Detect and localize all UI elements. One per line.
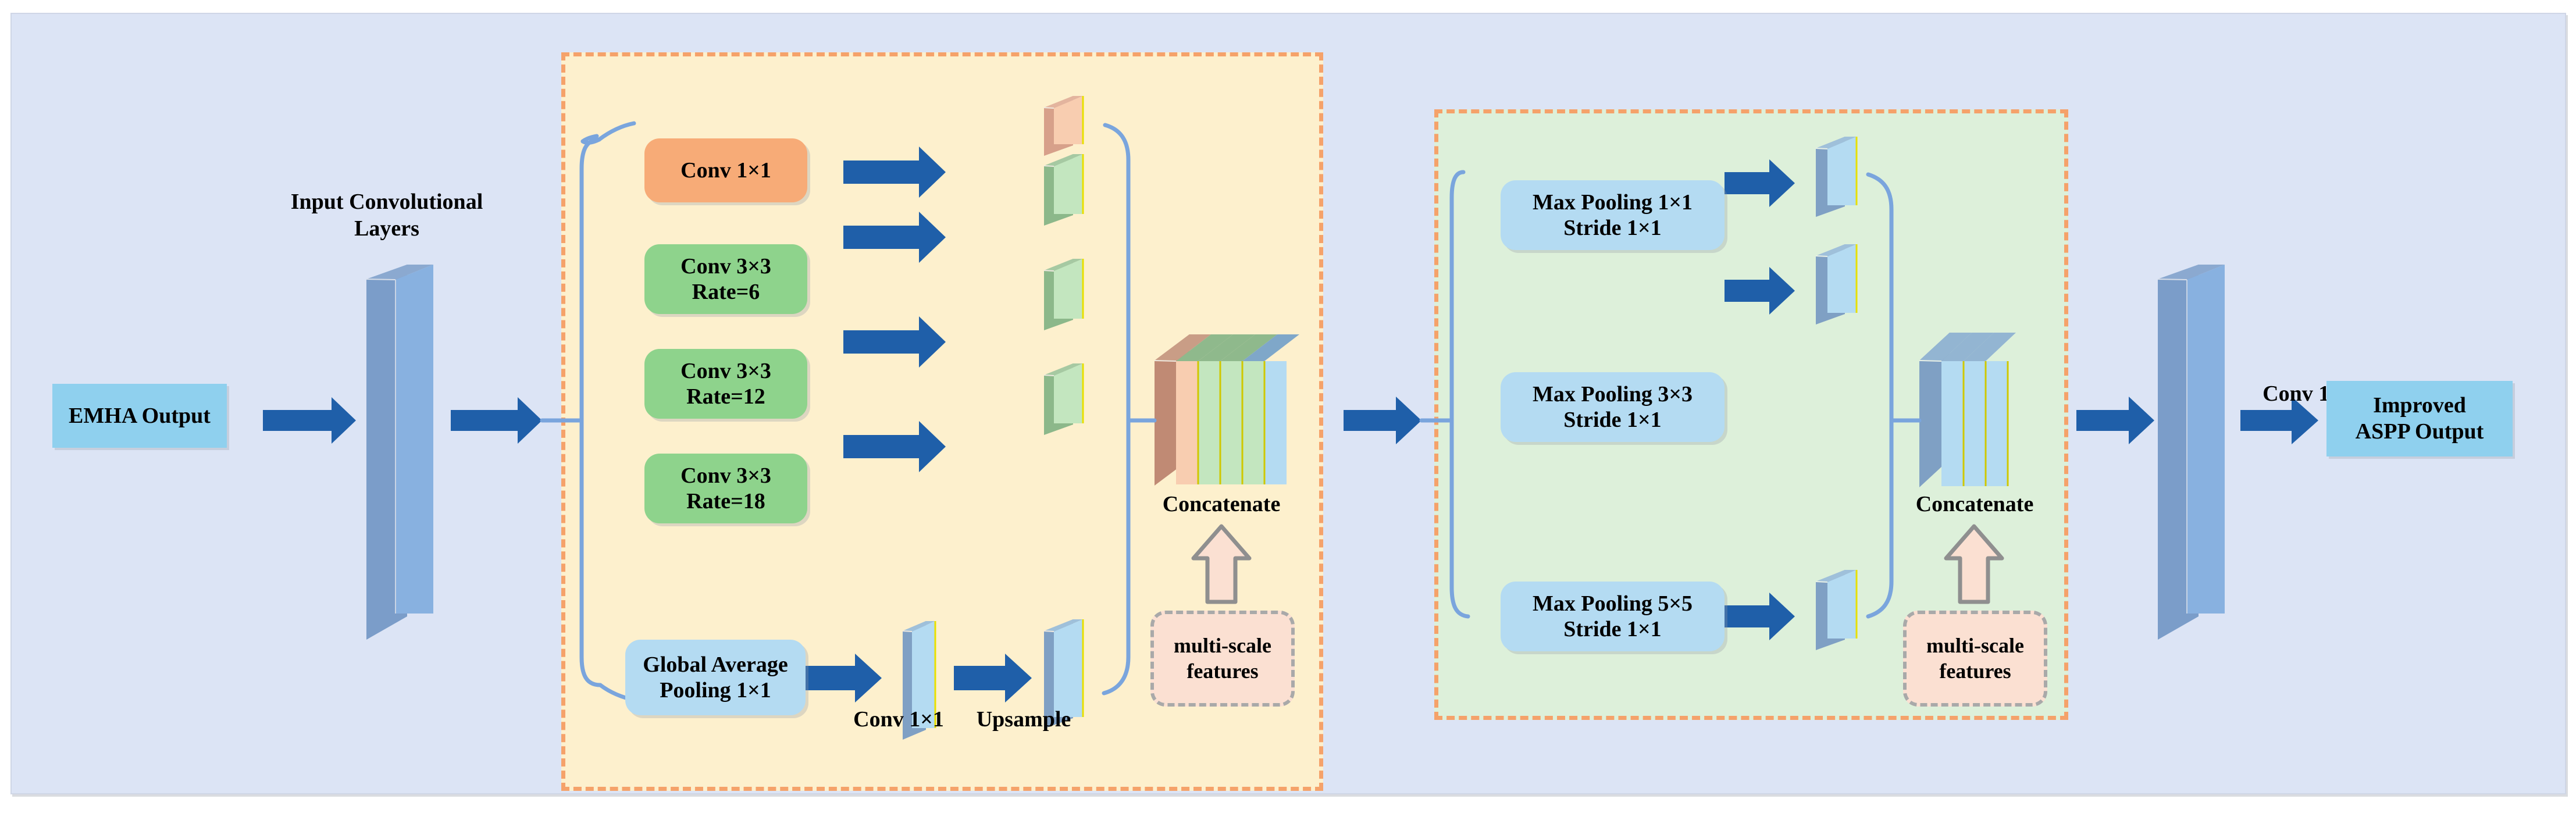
aspp-branch-rate12[interactable]: Conv 3×3 Rate=12 <box>644 349 807 419</box>
pool-branch-maxpool1x1[interactable]: Max Pooling 1×1 Stride 1×1 <box>1501 180 1725 250</box>
pool-branch-maxpool3x3[interactable]: Max Pooling 3×3 Stride 1×1 <box>1501 372 1725 442</box>
aspp-branch-rate18-label: Conv 3×3 Rate=18 <box>680 463 771 514</box>
diagram-canvas: EMHA Output Input Convolutional Layers C… <box>0 0 2576 831</box>
emha-output-label: EMHA Output <box>69 403 211 429</box>
pool-multiscale-callout[interactable]: multi-scale features <box>1903 611 2047 707</box>
aspp-branch-global-avg-pool-label: Global Average Pooling 1×1 <box>643 652 788 703</box>
pool-branch-maxpool3x3-label: Max Pooling 3×3 Stride 1×1 <box>1533 381 1693 433</box>
aspp-branch-rate12-label: Conv 3×3 Rate=12 <box>680 358 771 409</box>
aspp-branch-global-avg-pool[interactable]: Global Average Pooling 1×1 <box>625 640 806 715</box>
pool-branch-maxpool1x1-label: Max Pooling 1×1 Stride 1×1 <box>1533 190 1693 241</box>
improved-aspp-output-label: Improved ASPP Output <box>2356 393 2484 445</box>
emha-output-box[interactable]: EMHA Output <box>52 384 227 448</box>
aspp-concatenate-label: Concatenate <box>1123 491 1320 518</box>
aspp-multiscale-callout[interactable]: multi-scale features <box>1150 611 1295 707</box>
gap-upsample-label: Upsample <box>936 707 1111 733</box>
input-conv-layers-label: Input Convolutional Layers <box>265 189 509 242</box>
improved-aspp-output-box[interactable]: Improved ASPP Output <box>2326 381 2513 456</box>
aspp-branch-rate6[interactable]: Conv 3×3 Rate=6 <box>644 244 807 314</box>
aspp-multiscale-label: multi-scale features <box>1174 633 1271 683</box>
aspp-branch-rate18[interactable]: Conv 3×3 Rate=18 <box>644 454 807 523</box>
pool-branch-maxpool5x5-label: Max Pooling 5×5 Stride 1×1 <box>1533 591 1693 642</box>
pool-branch-maxpool5x5[interactable]: Max Pooling 5×5 Stride 1×1 <box>1501 582 1725 651</box>
pool-multiscale-label: multi-scale features <box>1926 633 2024 683</box>
aspp-branch-conv1x1[interactable]: Conv 1×1 <box>644 138 807 202</box>
pool-concatenate-label: Concatenate <box>1876 491 2073 518</box>
aspp-branch-conv1x1-label: Conv 1×1 <box>680 158 771 183</box>
aspp-branch-rate6-label: Conv 3×3 Rate=6 <box>680 254 771 305</box>
